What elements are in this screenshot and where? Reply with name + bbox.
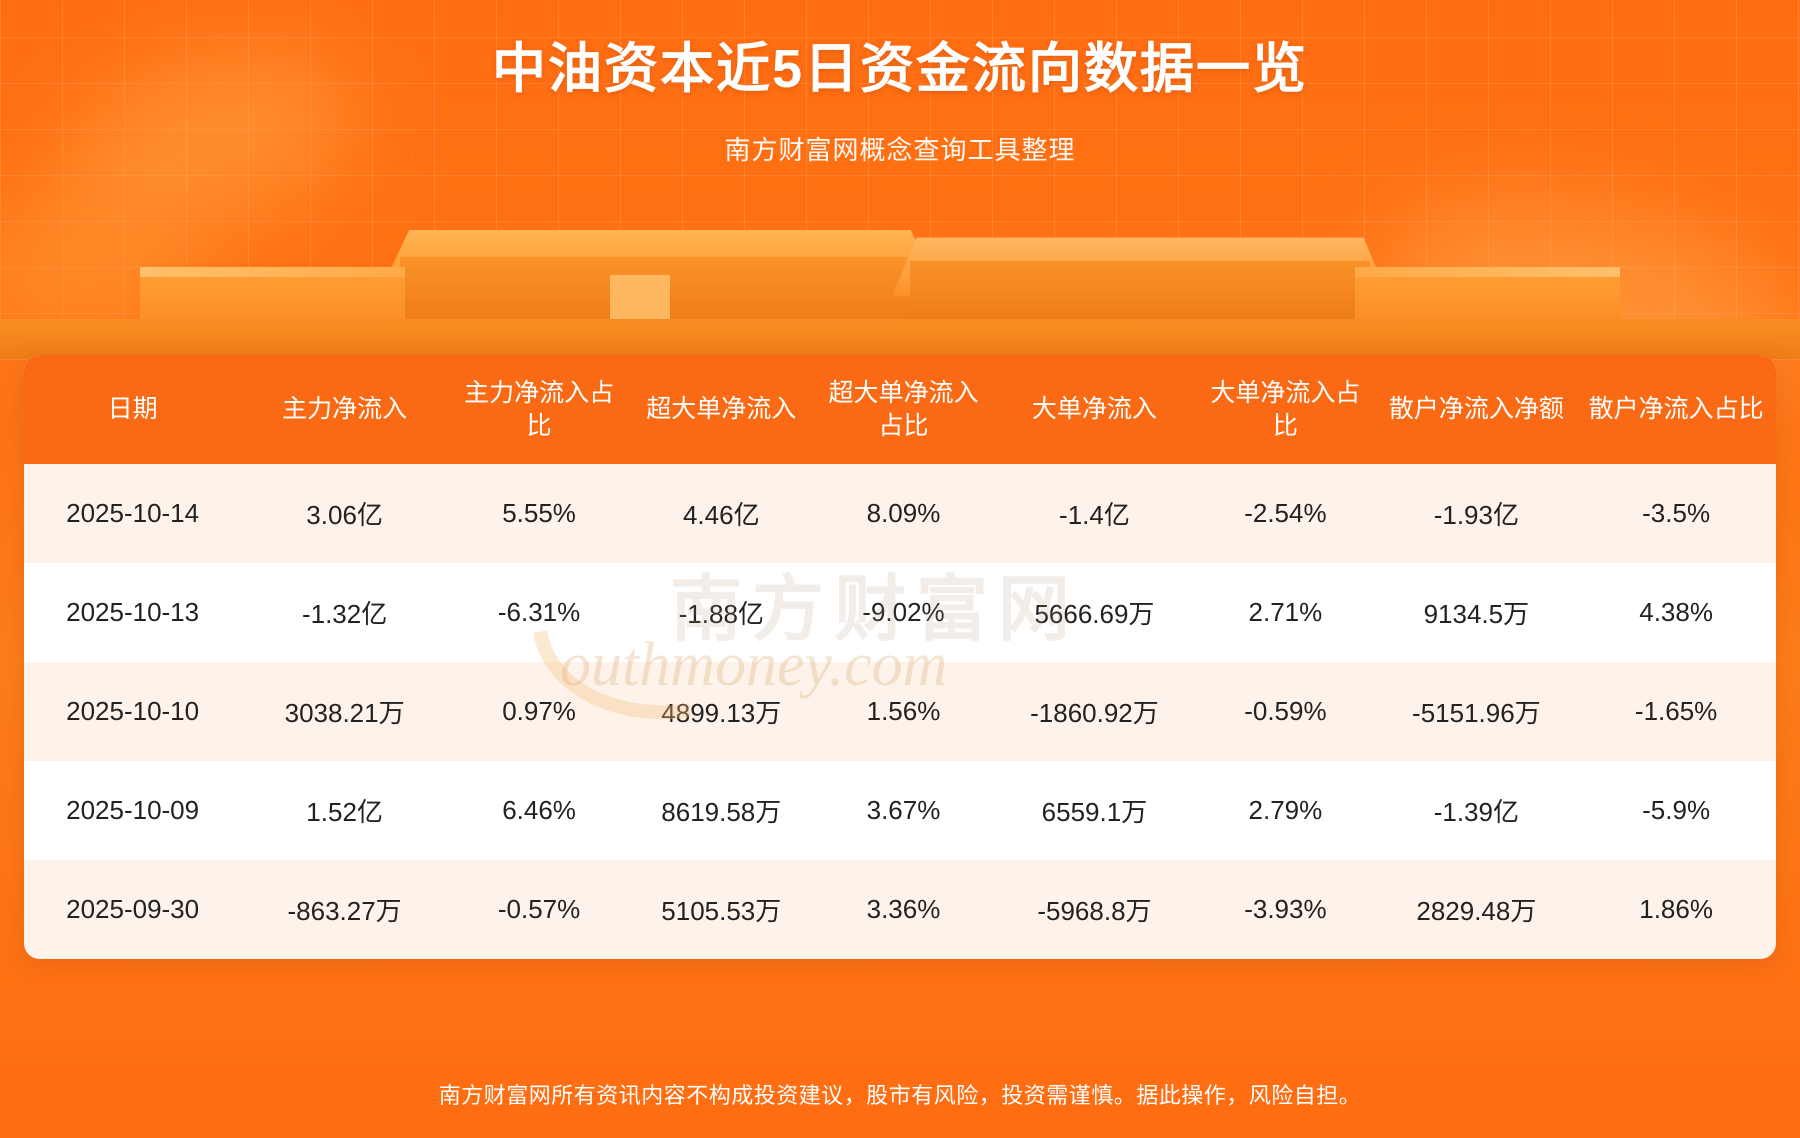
cell-large-net: -1.4亿 (995, 464, 1195, 563)
cell-date: 2025-10-14 (24, 464, 241, 563)
page-title: 中油资本近5日资金流向数据一览 (0, 36, 1800, 104)
cell-large-pct: 2.71% (1194, 563, 1376, 662)
cell-retail-net: 9134.5万 (1377, 563, 1577, 662)
cell-super-net: -1.88亿 (630, 563, 812, 662)
glow-decoration-edge (0, 200, 200, 340)
column-header-large-pct[interactable]: 大单净流入占比 (1194, 355, 1376, 464)
column-header-main-net[interactable]: 主力净流入 (241, 355, 448, 464)
cell-super-pct: -9.02% (812, 563, 994, 662)
cell-super-pct: 1.56% (812, 662, 994, 761)
podium-step-right (1355, 277, 1620, 357)
data-table-card: 日期 主力净流入 主力净流入占比 超大单净流入 超大单净流入占比 大单净流入 大… (24, 355, 1776, 959)
cell-large-pct: -0.59% (1194, 662, 1376, 761)
cell-main-pct: -0.57% (448, 860, 630, 959)
table-row: 2025-10-09 1.52亿 6.46% 8619.58万 3.67% 65… (24, 761, 1776, 860)
podium-slab-right (892, 237, 1388, 295)
podium-step-right-top (1355, 267, 1620, 293)
header-block: 中油资本近5日资金流向数据一览 南方财富网概念查询工具整理 (0, 36, 1800, 167)
cell-date: 2025-10-13 (24, 563, 241, 662)
cell-retail-pct: -3.5% (1576, 464, 1776, 563)
podium-step-left (140, 277, 405, 357)
page-subtitle: 南方财富网概念查询工具整理 (0, 130, 1800, 167)
podium-decoration (0, 215, 1800, 355)
table-row: 2025-10-13 -1.32亿 -6.31% -1.88亿 -9.02% 5… (24, 563, 1776, 662)
cell-retail-pct: 1.86% (1576, 860, 1776, 959)
cell-date: 2025-10-09 (24, 761, 241, 860)
cell-super-pct: 3.36% (812, 860, 994, 959)
cell-retail-net: -1.93亿 (1377, 464, 1577, 563)
cell-retail-pct: 4.38% (1576, 563, 1776, 662)
cell-main-net: -1.32亿 (241, 563, 448, 662)
cell-large-pct: 2.79% (1194, 761, 1376, 860)
table-row: 2025-09-30 -863.27万 -0.57% 5105.53万 3.36… (24, 860, 1776, 959)
cell-large-net: -1860.92万 (995, 662, 1195, 761)
cell-main-net: 1.52亿 (241, 761, 448, 860)
cell-retail-pct: -1.65% (1576, 662, 1776, 761)
column-header-retail-pct[interactable]: 散户净流入占比 (1576, 355, 1776, 464)
cell-super-net: 8619.58万 (630, 761, 812, 860)
cell-super-net: 4.46亿 (630, 464, 812, 563)
cell-super-pct: 8.09% (812, 464, 994, 563)
podium-base-band (0, 319, 1800, 359)
cell-retail-net: -1.39亿 (1377, 761, 1577, 860)
column-header-main-pct[interactable]: 主力净流入占比 (448, 355, 630, 464)
cell-main-pct: 6.46% (448, 761, 630, 860)
table-header-row: 日期 主力净流入 主力净流入占比 超大单净流入 超大单净流入占比 大单净流入 大… (24, 355, 1776, 464)
column-header-retail-net[interactable]: 散户净流入净额 (1377, 355, 1577, 464)
podium-slab-center (379, 230, 941, 294)
column-header-date[interactable]: 日期 (24, 355, 241, 464)
page-root: 中油资本近5日资金流向数据一览 南方财富网概念查询工具整理 日期 主力净流入 主… (0, 0, 1800, 1138)
cell-main-pct: 5.55% (448, 464, 630, 563)
cell-large-net: 5666.69万 (995, 563, 1195, 662)
cell-main-net: 3038.21万 (241, 662, 448, 761)
footer-disclaimer: 南方财富网所有资讯内容不构成投资建议，股市有风险，投资需谨慎。据此操作，风险自担… (0, 1078, 1800, 1110)
cell-main-pct: 0.97% (448, 662, 630, 761)
cell-large-net: -5968.8万 (995, 860, 1195, 959)
cell-main-pct: -6.31% (448, 563, 630, 662)
table-row: 2025-10-14 3.06亿 5.55% 4.46亿 8.09% -1.4亿… (24, 464, 1776, 563)
table-body: 2025-10-14 3.06亿 5.55% 4.46亿 8.09% -1.4亿… (24, 464, 1776, 959)
column-header-super-net[interactable]: 超大单净流入 (630, 355, 812, 464)
cell-retail-net: -5151.96万 (1377, 662, 1577, 761)
fund-flow-table: 日期 主力净流入 主力净流入占比 超大单净流入 超大单净流入占比 大单净流入 大… (24, 355, 1776, 959)
column-header-super-pct[interactable]: 超大单净流入占比 (812, 355, 994, 464)
cell-large-net: 6559.1万 (995, 761, 1195, 860)
table-header: 日期 主力净流入 主力净流入占比 超大单净流入 超大单净流入占比 大单净流入 大… (24, 355, 1776, 464)
cell-retail-pct: -5.9% (1576, 761, 1776, 860)
cell-main-net: 3.06亿 (241, 464, 448, 563)
column-header-large-net[interactable]: 大单净流入 (995, 355, 1195, 464)
podium-step-left-top (140, 267, 405, 293)
table-row: 2025-10-10 3038.21万 0.97% 4899.13万 1.56%… (24, 662, 1776, 761)
cell-date: 2025-09-30 (24, 860, 241, 959)
podium-slab-right-face (910, 261, 1370, 319)
cell-date: 2025-10-10 (24, 662, 241, 761)
cell-retail-net: 2829.48万 (1377, 860, 1577, 959)
cell-super-net: 5105.53万 (630, 860, 812, 959)
podium-pin-block (610, 275, 670, 319)
cell-super-pct: 3.67% (812, 761, 994, 860)
cell-super-net: 4899.13万 (630, 662, 812, 761)
cell-large-pct: -3.93% (1194, 860, 1376, 959)
cell-main-net: -863.27万 (241, 860, 448, 959)
cell-large-pct: -2.54% (1194, 464, 1376, 563)
podium-slab-center-face (400, 257, 920, 319)
